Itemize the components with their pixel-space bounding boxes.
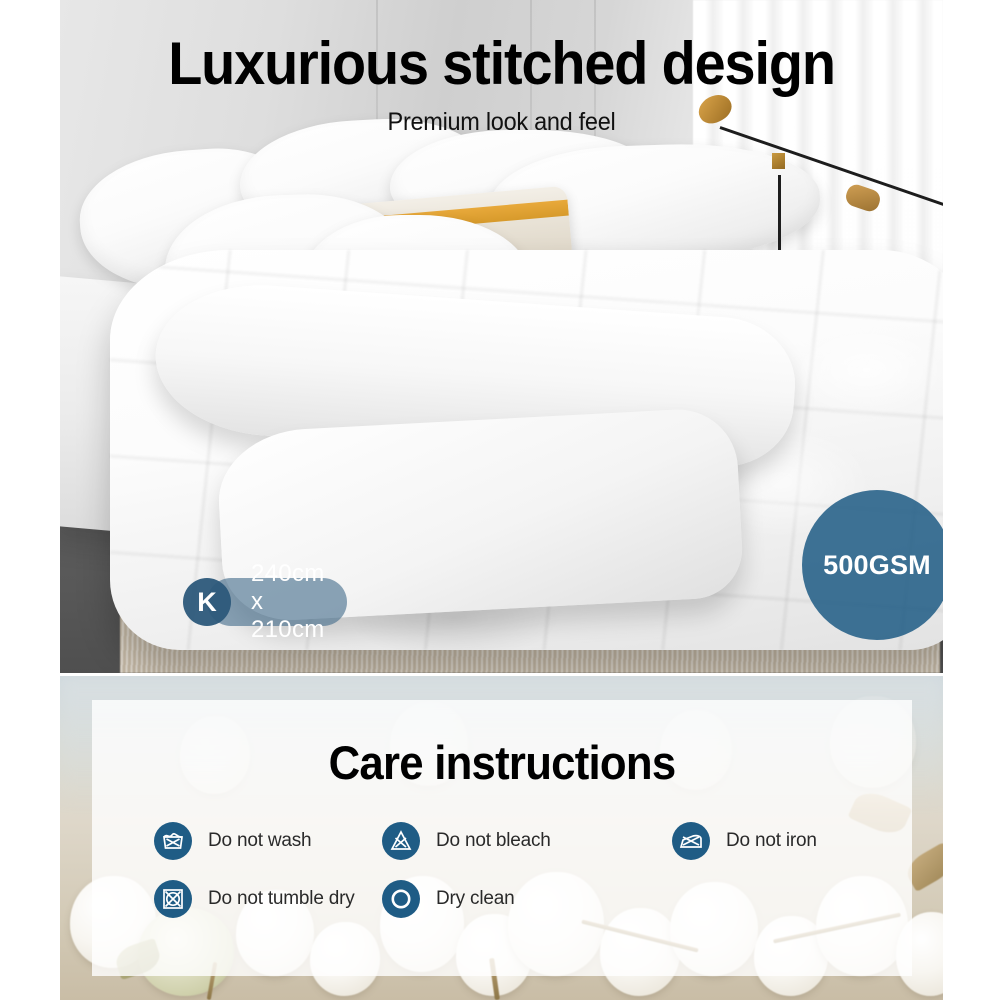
size-code-circle: K — [183, 578, 231, 626]
page-title: Luxurious stitched design — [91, 34, 912, 94]
care-item-label: Do not wash — [208, 830, 311, 852]
gsm-badge: 500GSM — [802, 490, 943, 640]
size-code-label: K — [197, 587, 217, 618]
care-item-do-not-bleach: Do not bleach — [382, 822, 672, 860]
do-not-iron-icon — [672, 822, 710, 860]
dry-clean-icon — [382, 880, 420, 918]
care-item-label: Do not bleach — [436, 830, 551, 852]
care-item-do-not-wash: Do not wash — [92, 822, 382, 860]
care-item-do-not-tumble-dry: Do not tumble dry — [92, 880, 382, 918]
product-marketing-image: Luxurious stitched design Premium look a… — [0, 0, 1000, 1000]
do-not-tumble-dry-icon — [154, 880, 192, 918]
care-instructions-panel: Care instructions Do not wash — [92, 700, 912, 976]
care-row: Do not wash Do not bleach — [92, 822, 912, 860]
lamp-joint — [772, 153, 785, 169]
right-white-margin — [943, 0, 1000, 1000]
care-item-dry-clean: Dry clean — [382, 880, 672, 918]
panel-divider-gap — [0, 673, 1000, 676]
size-badge: 240cm x 210cm K — [183, 578, 231, 626]
page-subtitle: Premium look and feel — [86, 108, 916, 137]
care-item-label: Do not iron — [726, 830, 817, 852]
care-item-do-not-iron: Do not iron — [672, 822, 912, 860]
size-dimensions-label: 240cm x 210cm — [251, 560, 325, 644]
care-item-label: Do not tumble dry — [208, 888, 355, 910]
do-not-wash-icon — [154, 822, 192, 860]
hero-bedroom-photo: Luxurious stitched design Premium look a… — [60, 0, 943, 673]
do-not-bleach-icon — [382, 822, 420, 860]
care-item-label: Dry clean — [436, 888, 514, 910]
care-instructions-grid: Do not wash Do not bleach — [92, 822, 912, 938]
gsm-badge-label: 500GSM — [823, 550, 931, 581]
care-instructions-title: Care instructions — [121, 735, 884, 790]
left-white-margin — [0, 0, 60, 1000]
care-row: Do not tumble dry Dry clean — [92, 880, 912, 918]
